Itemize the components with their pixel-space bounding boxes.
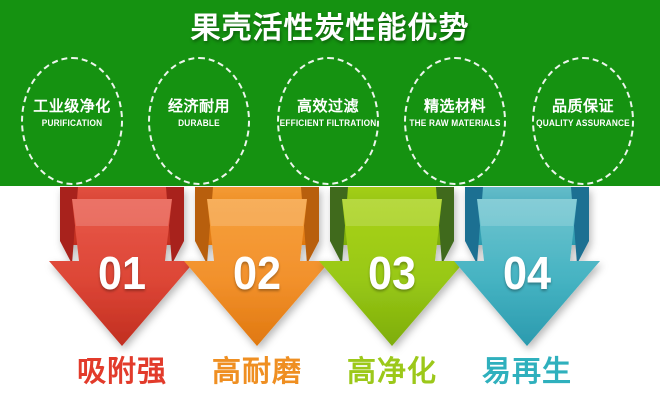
badge-label-en: PURIFICATION: [16, 116, 128, 130]
down-arrow-icon: [452, 186, 602, 356]
badge-durable: 经济耐用 DURABLE: [148, 57, 250, 185]
badge-text-group: 高效过滤 EFFICIENT FILTRATION: [267, 97, 389, 130]
badge-row: 工业级净化 PURIFICATION 经济耐用 DURABLE 高效过滤 EFF…: [0, 57, 660, 186]
badge-text-group: 经济耐用 DURABLE: [138, 97, 260, 130]
badge-label-en: EFFICIENT FILTRATION: [272, 116, 384, 130]
badge-efficient-filtration: 高效过滤 EFFICIENT FILTRATION: [277, 57, 379, 185]
down-arrow-icon: [47, 186, 197, 356]
down-arrow-icon: [182, 186, 332, 356]
badge-quality-assurance: 品质保证 QUALITY ASSURANCE: [532, 57, 634, 185]
badge-label-en: QUALITY ASSURANCE: [527, 116, 639, 130]
badge-label-cn: 工业级净化: [11, 97, 133, 116]
badge-label-en: DURABLE: [143, 116, 255, 130]
arrow-label: 易再生: [442, 354, 612, 390]
badge-text-group: 品质保证 QUALITY ASSURANCE: [522, 97, 644, 130]
arrow-row: 01 吸附强: [0, 186, 660, 400]
header-band: 果壳活性炭性能优势 工业级净化 PURIFICATION 经济耐用 DURABL…: [0, 0, 660, 186]
badge-raw-materials: 精选材料 THE RAW MATERIALS: [404, 57, 506, 185]
badge-text-group: 工业级净化 PURIFICATION: [11, 97, 133, 130]
badge-label-cn: 品质保证: [522, 97, 644, 116]
page-title: 果壳活性炭性能优势: [0, 11, 660, 47]
down-arrow-icon: [317, 186, 467, 356]
arrow-item-04: 04 易再生: [452, 186, 602, 400]
infographic-page: 果壳活性炭性能优势 工业级净化 PURIFICATION 经济耐用 DURABL…: [0, 0, 660, 400]
badge-purification: 工业级净化 PURIFICATION: [21, 57, 123, 185]
badge-label-en: THE RAW MATERIALS: [399, 116, 511, 130]
badge-label-cn: 经济耐用: [138, 97, 260, 116]
badge-label-cn: 高效过滤: [267, 97, 389, 116]
badge-label-cn: 精选材料: [394, 97, 516, 116]
badge-text-group: 精选材料 THE RAW MATERIALS: [394, 97, 516, 130]
